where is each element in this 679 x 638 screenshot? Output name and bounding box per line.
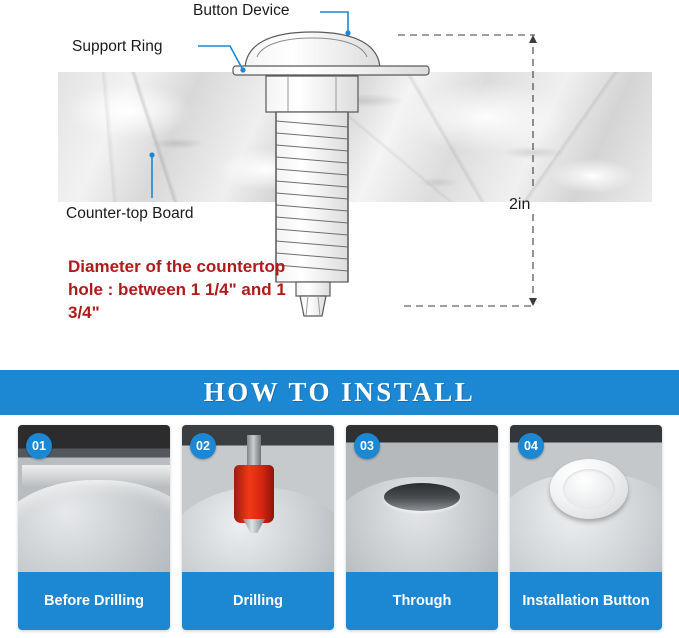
step-card-2[interactable]: 02 Drilling (182, 425, 334, 630)
install-steps: 01 Before Drilling 02 Drilling 03 Throug… (18, 425, 663, 630)
step-number-badge: 01 (26, 433, 52, 459)
step-caption: Installation Button (510, 572, 662, 630)
air-switch-button-shape (550, 459, 628, 519)
hole-diameter-note: Diameter of the countertop hole : betwee… (68, 256, 298, 325)
step-caption: Through (346, 572, 498, 630)
label-counter-top-board: Counter-top Board (66, 205, 194, 223)
step-card-4[interactable]: 04 Installation Button (510, 425, 662, 630)
step-caption-text: Installation Button (516, 592, 655, 610)
step-caption-text: Through (387, 592, 458, 610)
step-caption: Before Drilling (18, 572, 170, 630)
step-number-badge: 03 (354, 433, 380, 459)
step-card-1[interactable]: 01 Before Drilling (18, 425, 170, 630)
drill-bit-icon (234, 435, 274, 531)
installation-diagram: Button Device Support Ring Counter-top B… (0, 0, 679, 358)
label-button-device: Button Device (193, 2, 290, 20)
label-support-ring: Support Ring (72, 38, 162, 56)
step-number-badge: 04 (518, 433, 544, 459)
step-caption: Drilling (182, 572, 334, 630)
counter-hole-shape (384, 483, 460, 511)
step-number-badge: 02 (190, 433, 216, 459)
step-card-3[interactable]: 03 Through (346, 425, 498, 630)
step-caption-text: Drilling (227, 592, 289, 610)
how-to-install-banner: HOW TO INSTALL (0, 370, 679, 415)
banner-title: HOW TO INSTALL (204, 377, 476, 408)
label-dimension-2in: 2in (509, 196, 530, 214)
step-caption-text: Before Drilling (38, 592, 150, 610)
